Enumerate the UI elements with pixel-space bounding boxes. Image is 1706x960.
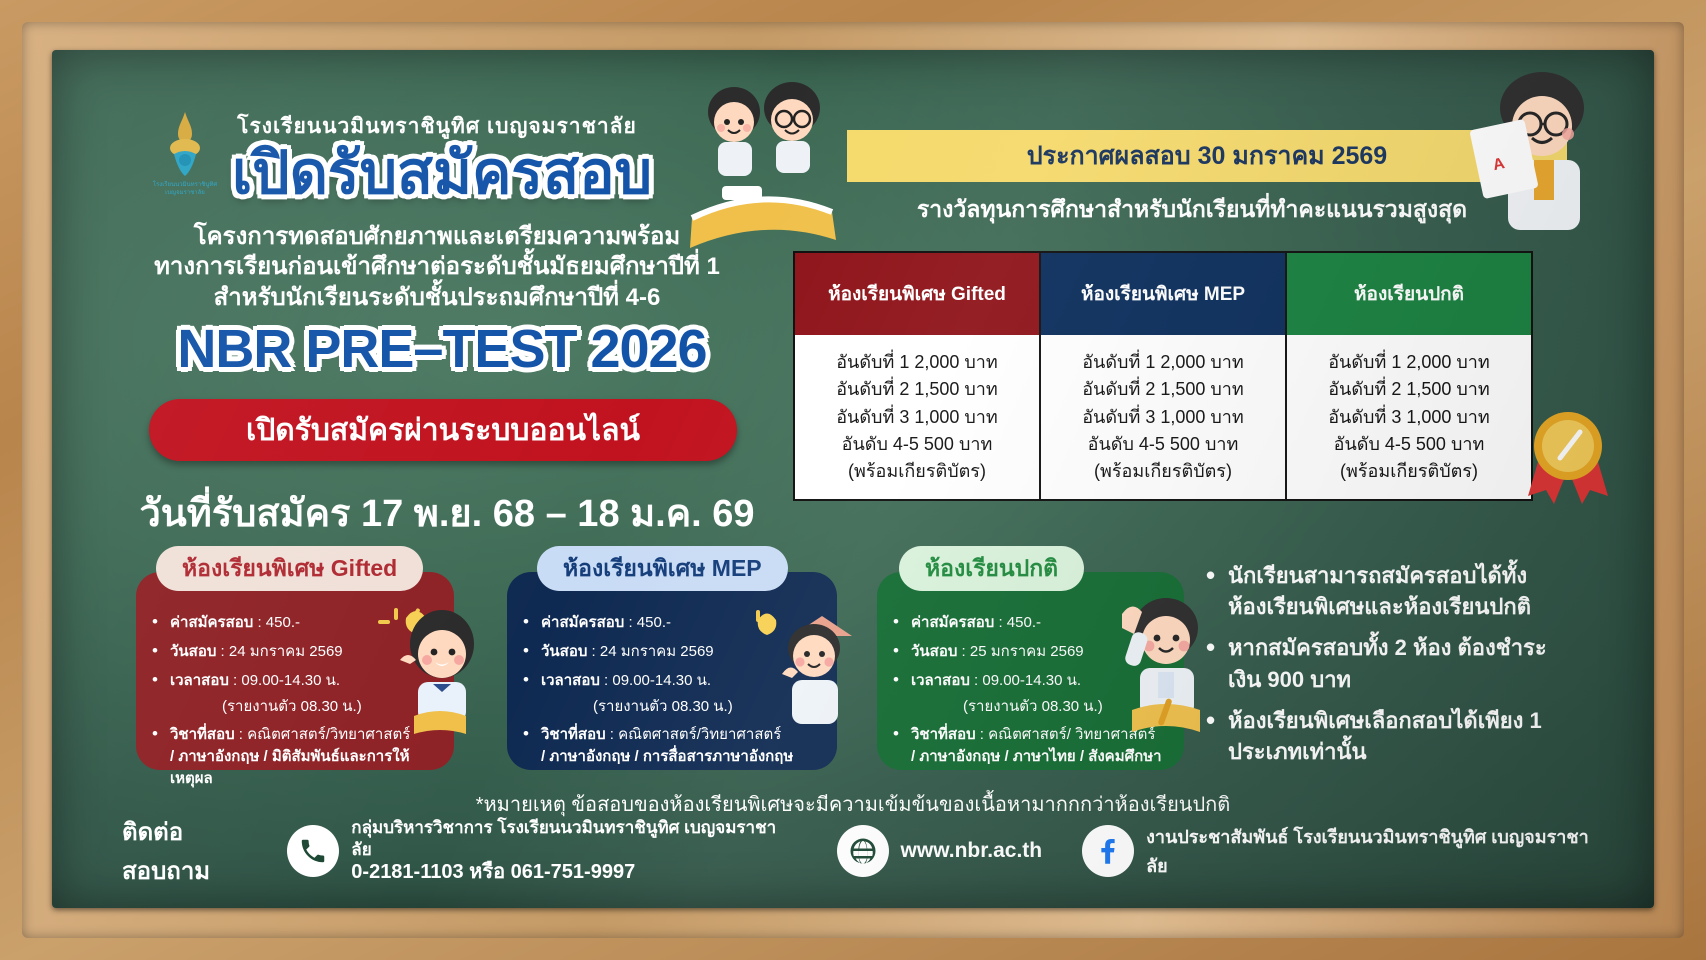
program-title: NBR PRE–TEST 2026 [162, 322, 722, 376]
prize-body-mep: อันดับที่ 1 2,000 บาท อันดับที่ 2 1,500 … [1041, 335, 1285, 499]
facebook-text[interactable]: งานประชาสัมพันธ์ โรงเรียนนวมินทราชินูทิศ… [1146, 822, 1604, 880]
school-name: โรงเรียนนวมินทราชินูทิศ เบญจมราชาลัย [227, 110, 647, 143]
prize-column-gifted: ห้องเรียนพิเศษ Gifted อันดับที่ 1 2,000 … [795, 253, 1041, 499]
online-registration-badge: เปิดรับสมัครผ่านระบบออนไลน์ [149, 399, 737, 461]
card-gifted-report-time: (รายงานตัว 08.30 น.) [170, 694, 362, 718]
prize-row: อันดับที่ 3 1,000 บาท [795, 404, 1039, 431]
prize-row: อันดับที่ 3 1,000 บาท [1041, 404, 1285, 431]
prize-table: ห้องเรียนพิเศษ Gifted อันดับที่ 1 2,000 … [793, 251, 1533, 501]
prize-row: (พร้อมเกียรติบัตร) [1287, 458, 1531, 485]
boy-student-illustration [742, 590, 852, 740]
poster-root: โรงเรียนนวมินทราชินูทิศ เบญจมราชาลัย โรง… [0, 0, 1706, 960]
footer-contact-bar: ติดต่อสอบถาม กลุ่มบริหารวิชาการ โรงเรียน… [122, 816, 1604, 886]
application-period: วันที่รับสมัคร 17 พ.ย. 68 – 18 ม.ค. 69 [132, 482, 762, 543]
prize-row: อันดับที่ 2 1,500 บาท [795, 376, 1039, 403]
prize-body-gifted: อันดับที่ 1 2,000 บาท อันดับที่ 2 1,500 … [795, 335, 1039, 499]
right-note-item: ห้องเรียนพิเศษเลือกสอบได้เพียง 1 ประเภทเ… [1204, 705, 1564, 767]
subtitle-line-2: ทางการเรียนก่อนเข้าศึกษาต่อระดับชั้นมัธย… [152, 252, 722, 282]
card-normal-report-time: (รายงานตัว 08.30 น.) [911, 694, 1103, 718]
contact-label: ติดต่อสอบถาม [122, 812, 269, 890]
prize-row: อันดับที่ 1 2,000 บาท [795, 349, 1039, 376]
page-title: เปิดรับสมัครสอบ [182, 144, 702, 203]
prize-row: (พร้อมเกียรติบัตร) [1041, 458, 1285, 485]
prize-body-normal: อันดับที่ 1 2,000 บาท อันดับที่ 2 1,500 … [1287, 335, 1531, 499]
prize-row: อันดับที่ 3 1,000 บาท [1287, 404, 1531, 431]
phone-line: 0-2181-1103 หรือ 061-751-9997 [351, 860, 790, 885]
right-note-item: นักเรียนสามารถสมัครสอบได้ทั้งห้องเรียนพิ… [1204, 560, 1564, 622]
right-note-item: หากสมัครสอบทั้ง 2 ห้อง ต้องชำระเงิน 900 … [1204, 632, 1564, 694]
boy-raising-hand-illustration [1106, 580, 1216, 740]
globe-icon[interactable] [837, 825, 889, 877]
card-gifted-title: ห้องเรียนพิเศษ Gifted [156, 546, 423, 591]
website-text[interactable]: www.nbr.ac.th [901, 839, 1043, 863]
prize-row: (พร้อมเกียรติบัตร) [795, 458, 1039, 485]
girl-student-illustration [370, 590, 480, 740]
subtitle-block: โครงการทดสอบศักยภาพและเตรียมความพร้อม ทา… [152, 222, 722, 313]
prize-row: อันดับ 4-5 500 บาท [795, 431, 1039, 458]
prize-row: อันดับ 4-5 500 บาท [1041, 431, 1285, 458]
prize-header-gifted: ห้องเรียนพิเศษ Gifted [795, 253, 1039, 335]
chalkboard: โรงเรียนนวมินทราชินูทิศ เบญจมราชาลัย โรง… [52, 50, 1654, 908]
prize-row: อันดับที่ 2 1,500 บาท [1041, 376, 1285, 403]
prize-column-normal: ห้องเรียนปกติ อันดับที่ 1 2,000 บาท อันด… [1287, 253, 1531, 499]
medal-icon [1520, 402, 1616, 512]
card-mep-report-time: (รายงานตัว 08.30 น.) [541, 694, 733, 718]
prize-header-mep: ห้องเรียนพิเศษ MEP [1041, 253, 1285, 335]
subtitle-line-1: โครงการทดสอบศักยภาพและเตรียมความพร้อม [152, 222, 722, 252]
facebook-icon[interactable] [1082, 825, 1134, 877]
prize-row: อันดับที่ 2 1,500 บาท [1287, 376, 1531, 403]
card-mep-title: ห้องเรียนพิเศษ MEP [537, 546, 788, 591]
prize-row: อันดับที่ 1 2,000 บาท [1041, 349, 1285, 376]
student-with-paper-illustration: A [1446, 64, 1646, 244]
prize-header-normal: ห้องเรียนปกติ [1287, 253, 1531, 335]
subtitle-line-3: สำหรับนักเรียนระดับชั้นประถมศึกษาปีที่ 4… [152, 283, 722, 313]
prize-column-mep: ห้องเรียนพิเศษ MEP อันดับที่ 1 2,000 บาท… [1041, 253, 1287, 499]
card-normal-title: ห้องเรียนปกติ [899, 546, 1084, 591]
prize-row: อันดับ 4-5 500 บาท [1287, 431, 1531, 458]
office-line: กลุ่มบริหารวิชาการ โรงเรียนนวมินทราชินูท… [351, 817, 790, 860]
phone-icon [287, 825, 339, 877]
right-notes-list: นักเรียนสามารถสมัครสอบได้ทั้งห้องเรียนพิ… [1204, 560, 1564, 777]
prize-row: อันดับที่ 1 2,000 บาท [1287, 349, 1531, 376]
office-contact-text: กลุ่มบริหารวิชาการ โรงเรียนนวมินทราชินูท… [351, 817, 790, 885]
